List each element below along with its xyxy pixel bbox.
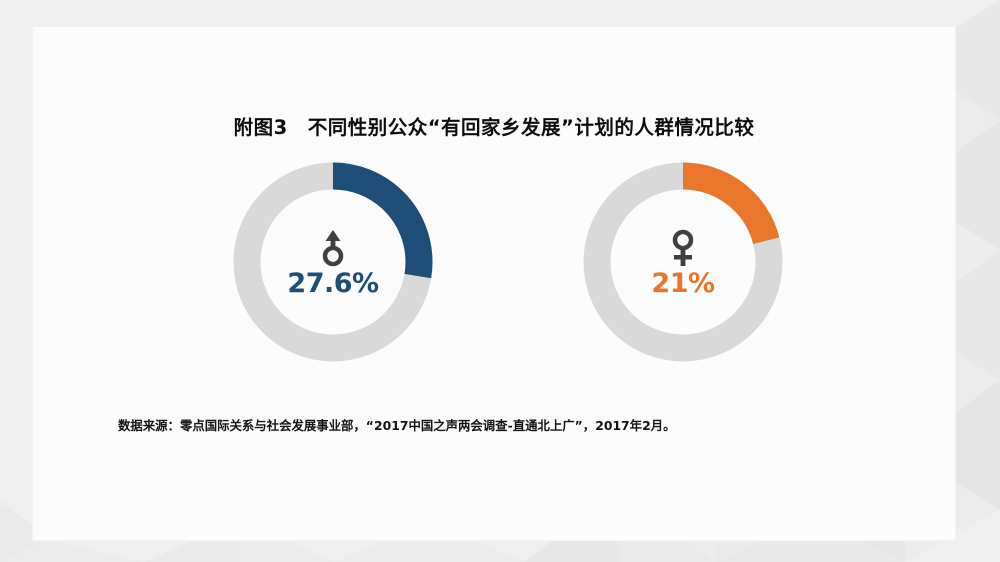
donut-chart-male: 27.6%	[233, 162, 433, 362]
donut-chart-group: 27.6% 21%	[33, 162, 955, 392]
donut-chart-female: 21%	[583, 162, 783, 362]
page-title: 附图3 不同性别公众“有回家乡发展”计划的人群情况比较	[33, 111, 955, 140]
female-gender-icon	[668, 228, 698, 268]
slide-content-card: 附图3 不同性别公众“有回家乡发展”计划的人群情况比较 27.6%	[33, 27, 955, 540]
male-gender-icon	[318, 228, 348, 268]
source-note: 数据来源：零点国际关系与社会发展事业部，“2017中国之声两会调查-直通北上广”…	[118, 416, 908, 434]
donut-center-male: 27.6%	[233, 162, 433, 362]
donut-value-label-female: 21%	[651, 270, 714, 297]
donut-center-female: 21%	[583, 162, 783, 362]
donut-value-label-male: 27.6%	[287, 270, 378, 297]
